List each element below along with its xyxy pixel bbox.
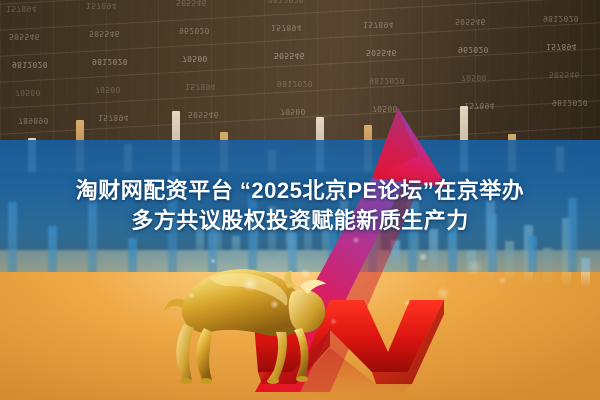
bokeh-dot	[188, 292, 195, 299]
bokeh-dot	[498, 276, 507, 285]
headline-block: 淘财网配资平台 “2025北京PE论坛”在京举办 多方共议股权投资赋能新质生产力	[0, 158, 600, 254]
bokeh-dot	[466, 258, 484, 276]
bokeh-dot	[242, 276, 258, 292]
news-banner: 1578945055469812020705007898901578945055…	[0, 0, 600, 400]
bokeh-dot	[210, 258, 216, 264]
bokeh-dot	[330, 318, 337, 325]
bokeh-dot	[404, 300, 410, 306]
bokeh-dot	[436, 286, 450, 300]
bokeh-dot	[270, 300, 279, 309]
headline-line-2: 多方共议股权投资赋能新质生产力	[131, 209, 469, 233]
bokeh-dot	[300, 268, 311, 279]
headline-line-1: 淘财网配资平台 “2025北京PE论坛”在京举办	[76, 179, 524, 203]
